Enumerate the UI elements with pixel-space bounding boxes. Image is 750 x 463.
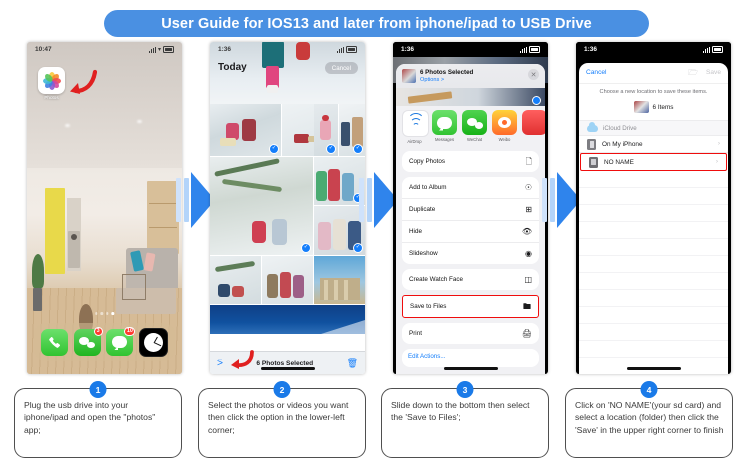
red-arrow-pointing-to-photos <box>67 69 97 95</box>
home-indicator <box>444 367 498 370</box>
edit-actions-link[interactable]: Edit Actions... <box>408 353 446 360</box>
battery-icon <box>346 46 357 53</box>
caption-text: Slide down to the bottom then select the… <box>391 399 541 424</box>
status-bar-1: 10:47 ▾ <box>27 42 182 57</box>
status-bar-2: 1:36 <box>210 42 365 57</box>
preview-selected-check <box>532 96 541 105</box>
new-folder-icon[interactable]: 🗁 <box>688 69 698 77</box>
page-title-banner: User Guide for IOS13 and later from ipho… <box>104 10 649 37</box>
watch-icon: ◫ <box>520 274 532 285</box>
copy-icon: 🗋 <box>520 156 532 167</box>
home-dock: 3 10 <box>34 323 175 361</box>
files-thumbnail <box>634 101 649 113</box>
photo-cell[interactable]: ✓ <box>210 104 281 156</box>
dock-clock-app[interactable] <box>139 328 168 357</box>
files-section-icloud: iCloud Drive <box>579 120 728 136</box>
share-app-wechat[interactable]: WeChat <box>462 110 487 142</box>
share-app-airdrop[interactable]: AirDrop <box>402 110 427 144</box>
photos-header-title: Today <box>218 62 247 73</box>
airdrop-icon <box>407 116 424 131</box>
files-cancel-button[interactable]: Cancel <box>586 69 607 76</box>
red-arrow-pointing-to-share <box>228 350 254 370</box>
share-app-messages[interactable]: Messages <box>432 110 457 142</box>
step-number-badge: 3 <box>457 381 474 398</box>
phone-screenshot-2-photos-grid: 1:36 Today Cancel ✓ ✓ <box>210 42 365 374</box>
dock-wechat-app[interactable]: 3 <box>74 329 101 356</box>
usb-drive-icon <box>589 157 598 168</box>
status-time: 10:47 <box>35 46 52 53</box>
share-app-more[interactable] <box>522 110 545 137</box>
photo-cell[interactable]: ✓ <box>210 157 313 255</box>
wechat-badge: 3 <box>94 327 103 336</box>
share-menu-group-2: Add to Album ☉ Duplicate ⊞ Hide 👁 Slides… <box>402 177 539 264</box>
photo-cell[interactable] <box>210 256 261 304</box>
trash-icon[interactable]: 🗑 <box>347 359 358 368</box>
share-sheet-title: 6 Photos Selected <box>420 69 473 76</box>
caption-text: Plug the usb drive into your iphone/ipad… <box>24 399 174 436</box>
share-apps-row: AirDrop Messages WeChat Weibo <box>396 110 545 144</box>
wallpaper-light-2 <box>137 120 142 123</box>
page-title: User Guide for IOS13 and later from ipho… <box>161 16 592 32</box>
dock-phone-app[interactable] <box>41 329 68 356</box>
steps-screenshots-row: 10:47 ▾ Photos <box>0 42 750 374</box>
clock-face-glyph <box>144 333 163 352</box>
photo-selected-check: ✓ <box>353 243 363 253</box>
share-app-weibo[interactable]: Weibo <box>492 110 517 142</box>
dock-messages-app[interactable]: 10 <box>106 329 133 356</box>
files-picker-sheet: Cancel 🗁 Save Choose a new location to s… <box>579 63 728 374</box>
menu-item-slideshow[interactable]: Slideshow ◉ <box>402 243 539 264</box>
photo-cell[interactable]: ✓ <box>314 104 338 156</box>
photos-app-icon[interactable] <box>38 67 65 94</box>
menu-item-add-to-album[interactable]: Add to Album ☉ <box>402 177 539 199</box>
phone-screenshot-4-files-picker: 1:36 Cancel 🗁 Save Choose a new location… <box>576 42 731 374</box>
photo-cell[interactable] <box>262 256 313 304</box>
home-indicator <box>627 367 681 370</box>
step-number-badge: 1 <box>90 381 107 398</box>
close-icon[interactable]: ✕ <box>528 69 539 80</box>
caption-text: Click on 'NO NAME'(your sd card) and sel… <box>575 399 725 436</box>
wallpaper-ceiling <box>27 42 182 168</box>
photo-selected-check: ✓ <box>301 243 311 253</box>
menu-item-save-to-files[interactable]: Save to Files 🖿 <box>403 296 538 317</box>
battery-icon <box>712 46 723 53</box>
home-indicator <box>261 367 315 370</box>
status-time: 1:36 <box>401 46 414 53</box>
home-page-dots <box>95 312 114 315</box>
photo-selected-check: ✓ <box>353 144 363 154</box>
share-sheet-header: 6 Photos Selected Options > ✕ <box>396 64 545 106</box>
share-menu-group-4: Print 🖨 <box>402 323 539 344</box>
phone-screenshot-1-home: 10:47 ▾ Photos <box>27 42 182 374</box>
photo-cell[interactable] <box>314 256 365 304</box>
menu-item-duplicate[interactable]: Duplicate ⊞ <box>402 199 539 221</box>
weibo-icon <box>498 117 511 128</box>
wallpaper-yellow-door <box>45 188 65 274</box>
files-save-button[interactable]: Save <box>706 69 721 76</box>
messages-bubble-glyph <box>112 336 127 348</box>
signal-icon <box>337 47 344 53</box>
caption-box-2: 2 Select the photos or videos you want t… <box>198 388 366 458</box>
status-bar-3: 1:36 <box>393 42 548 57</box>
share-photo-preview <box>396 88 545 106</box>
chevron-right-icon: › <box>716 159 718 166</box>
signal-icon <box>149 47 156 53</box>
files-subtitle: Choose a new location to save these item… <box>579 89 728 95</box>
wechat-icon <box>467 117 483 129</box>
wallpaper-light-1 <box>65 124 70 127</box>
slideshow-icon: ◉ <box>520 248 532 259</box>
share-menu-group-1: Copy Photos 🗋 <box>402 151 539 172</box>
caption-box-4: 4 Click on 'NO NAME'(your sd card) and s… <box>565 388 733 458</box>
caption-box-3: 3 Slide down to the bottom then select t… <box>381 388 549 458</box>
battery-icon <box>163 46 174 53</box>
menu-item-hide[interactable]: Hide 👁 <box>402 221 539 243</box>
files-row-no-name-highlighted[interactable]: NO NAME › <box>580 153 727 171</box>
share-sheet: 6 Photos Selected Options > ✕ <box>396 64 545 374</box>
messages-icon <box>437 117 452 129</box>
menu-item-create-watch-face[interactable]: Create Watch Face ◫ <box>402 269 539 290</box>
wallpaper-washer <box>68 231 80 268</box>
files-nav-bar: Cancel 🗁 Save <box>579 63 728 84</box>
photo-cell[interactable]: ✓ <box>314 157 365 205</box>
printer-icon: 🖨 <box>520 328 532 339</box>
photo-cell[interactable]: ✓ <box>314 206 365 255</box>
caption-text: Select the photos or videos you want the… <box>208 399 358 436</box>
share-menu-save-to-files-highlighted: Save to Files 🖿 <box>402 295 539 318</box>
step-captions-row: 1 Plug the usb drive into your iphone/ip… <box>0 380 750 463</box>
wallpaper-table <box>122 274 146 299</box>
menu-item-print[interactable]: Print 🖨 <box>402 323 539 344</box>
photos-cancel-button[interactable]: Cancel <box>325 62 358 74</box>
photo-selected-check: ✓ <box>269 144 279 154</box>
wallpaper-pot <box>33 288 42 311</box>
iphone-icon <box>587 139 596 150</box>
status-bar-4: 1:36 <box>576 42 731 57</box>
chevron-right-icon: › <box>718 141 720 148</box>
folder-icon: 🖿 <box>519 301 531 312</box>
step-number-badge: 4 <box>641 381 658 398</box>
photos-flower-glyph <box>42 71 61 90</box>
status-time: 1:36 <box>584 46 597 53</box>
caption-box-1: 1 Plug the usb drive into your iphone/ip… <box>14 388 182 458</box>
wallpaper-shelf <box>147 181 179 254</box>
phone-screenshot-3-share-sheet: 1:36 6 Photos Selected Options > ✕ <box>393 42 548 374</box>
messages-badge: 10 <box>124 327 135 336</box>
signal-icon <box>703 47 710 53</box>
duplicate-icon: ⊞ <box>520 204 532 215</box>
wallpaper-plant <box>32 254 44 287</box>
share-thumbnail <box>402 69 416 83</box>
files-items-summary: 6 Items <box>579 101 728 113</box>
album-icon: ☉ <box>520 182 532 193</box>
wifi-icon: ▾ <box>158 47 161 53</box>
step-number-badge: 2 <box>274 381 291 398</box>
share-options-link[interactable]: Options > <box>420 77 444 83</box>
menu-item-copy-photos[interactable]: Copy Photos 🗋 <box>402 151 539 172</box>
photos-grid: ✓ ✓ ✓ ✓ <box>210 104 365 334</box>
signal-icon <box>520 47 527 53</box>
status-time: 1:36 <box>218 46 231 53</box>
share-menu-group-3: Create Watch Face ◫ <box>402 269 539 290</box>
eye-slash-icon: 👁 <box>520 226 532 237</box>
cloud-icon <box>587 125 598 132</box>
files-row-on-my-iphone[interactable]: On My iPhone › <box>579 136 728 153</box>
battery-icon <box>529 46 540 53</box>
wechat-glyph <box>79 336 95 348</box>
files-items-label: 6 Items <box>653 104 674 111</box>
photos-app-label: Photos <box>31 95 72 100</box>
photo-selected-check: ✓ <box>326 144 336 154</box>
photo-cell[interactable] <box>210 305 365 334</box>
photo-cell[interactable]: ✓ <box>339 104 365 156</box>
